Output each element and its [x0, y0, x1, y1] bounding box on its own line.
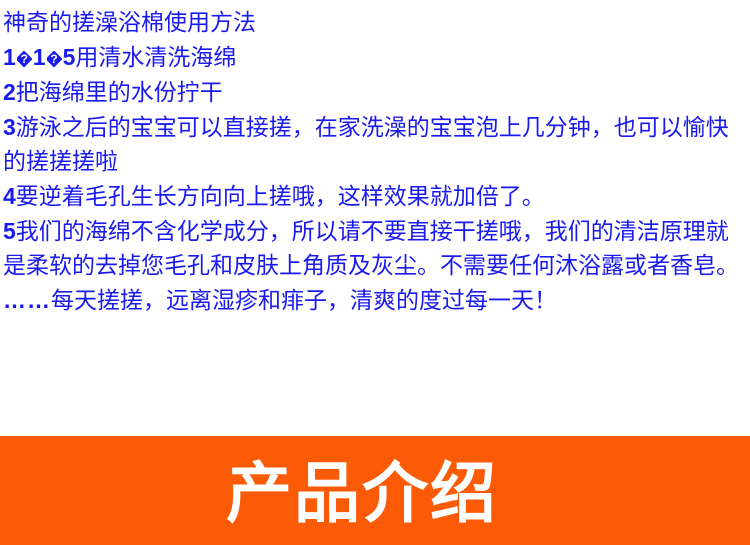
step-number-3: 3: [3, 114, 16, 140]
instruction-step-1: 1?1?5用清水清洗海绵: [3, 40, 748, 75]
instruction-step-5: 5我们的海绵不含化学成分，所以请不要直接干搓哦，我们的清洁原理就是柔软的去掉您毛…: [3, 214, 748, 283]
step-text-1: 用清水清洗海绵: [75, 45, 236, 70]
step-number-4: 4: [3, 183, 16, 209]
step-text-4: 要逆着毛孔生长方向向上搓哦，这样效果就加倍了。: [16, 184, 545, 209]
instructions-block: 神奇的搓澡浴棉使用方法 1?1?5用清水清洗海绵 2把海绵里的水份拧干 3游泳之…: [0, 0, 750, 318]
step-number-1c: 5: [63, 44, 76, 70]
instruction-step-4: 4要逆着毛孔生长方向向上搓哦，这样效果就加倍了。: [3, 179, 748, 214]
step-text-2: 把海绵里的水份拧干: [16, 80, 223, 105]
step-number-1b: 1: [33, 44, 46, 70]
instruction-step-3: 3游泳之后的宝宝可以直接搓，在家洗澡的宝宝泡上几分钟，也可以愉快的搓搓搓啦: [3, 110, 748, 179]
replacement-char-icon: ?: [17, 51, 32, 68]
step-number-2: 2: [3, 79, 16, 105]
product-intro-banner: 产品介绍: [0, 436, 750, 545]
instruction-step-2: 2把海绵里的水份拧干: [3, 75, 748, 110]
footnote-text: 每天搓搓，远离湿疹和痱子，清爽的度过每一天！: [51, 288, 557, 313]
instructions-title: 神奇的搓澡浴棉使用方法: [3, 6, 748, 40]
instruction-footnote: ……每天搓搓，远离湿疹和痱子，清爽的度过每一天！: [3, 283, 748, 318]
step-number-5: 5: [3, 218, 16, 244]
banner-title: 产品介绍: [226, 460, 498, 526]
replacement-char-icon: ?: [47, 51, 62, 68]
footnote-ellipsis: ……: [3, 287, 51, 313]
step-text-5: 我们的海绵不含化学成分，所以请不要直接干搓哦，我们的清洁原理就是柔软的去掉您毛孔…: [3, 219, 739, 278]
step-number-1: 1: [3, 44, 16, 70]
step-text-3: 游泳之后的宝宝可以直接搓，在家洗澡的宝宝泡上几分钟，也可以愉快的搓搓搓啦: [3, 115, 729, 174]
product-description-page: 神奇的搓澡浴棉使用方法 1?1?5用清水清洗海绵 2把海绵里的水份拧干 3游泳之…: [0, 0, 750, 545]
